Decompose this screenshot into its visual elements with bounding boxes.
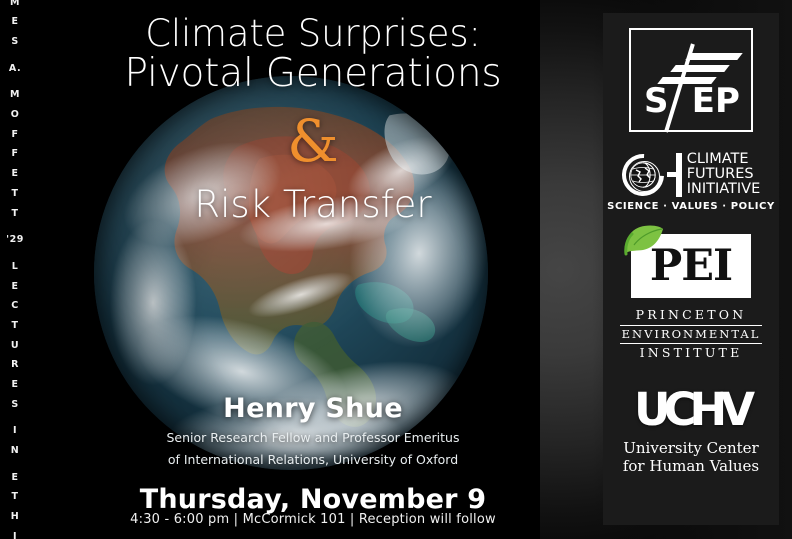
event-poster: J A M E S A. M O F F E T T '29 L E C T U… bbox=[0, 0, 792, 539]
step-letters: S T E P bbox=[631, 84, 751, 118]
sidebar-letter: M bbox=[10, 0, 20, 7]
sidebar-letter: F bbox=[11, 130, 18, 140]
sidebar-letter: F bbox=[11, 149, 18, 159]
step-letter-e: E bbox=[692, 84, 715, 118]
step-letter-p: P bbox=[715, 84, 740, 118]
title-line-2: Pivotal Generations bbox=[30, 53, 596, 94]
sidebar-letter: T bbox=[12, 209, 19, 219]
event-details: 4:30 - 6:00 pm | McCormick 101 | Recepti… bbox=[30, 512, 596, 527]
cfi-globe-icon bbox=[622, 153, 666, 197]
sponsor-logo-panel: S T E P bbox=[603, 13, 779, 525]
title-subtitle: Risk Transfer bbox=[30, 183, 596, 226]
leaf-icon bbox=[622, 223, 664, 257]
step-letter-s: S bbox=[644, 84, 669, 118]
sidebar-letter: R bbox=[11, 360, 19, 370]
series-title-vertical: J A M E S A. M O F F E T T '29 L E C T U… bbox=[6, 0, 24, 539]
cfi-f-arm bbox=[667, 172, 682, 177]
step-stair-bar bbox=[670, 65, 729, 72]
cfi-line-1: CLIMATE bbox=[687, 152, 761, 167]
sidebar-letter: I bbox=[13, 426, 17, 436]
cfi-f-letter bbox=[664, 153, 684, 197]
sidebar-letter: A. bbox=[9, 64, 21, 74]
sidebar-letter: S bbox=[11, 37, 18, 47]
sidebar-letter: E bbox=[11, 380, 18, 390]
sidebar-letter: L bbox=[12, 262, 19, 272]
speaker-name: Henry Shue bbox=[30, 393, 596, 424]
cfi-logo-row: CLIMATE FUTURES INITIATIVE bbox=[622, 152, 761, 197]
series-sidebar: J A M E S A. M O F F E T T '29 L E C T U… bbox=[0, 0, 30, 539]
pei-line-2: ENVIRONMENTAL bbox=[620, 325, 763, 344]
sidebar-letter: I bbox=[13, 532, 17, 539]
uchv-line-1: University Center bbox=[623, 439, 759, 457]
sidebar-letter: N bbox=[11, 446, 19, 456]
sidebar-letter: U bbox=[11, 341, 19, 351]
sidebar-letter: E bbox=[11, 282, 18, 292]
princeton-environmental-institute-logo: PEI PRINCETON ENVIRONMENTAL INSTITUTE bbox=[603, 234, 779, 363]
step-stair-bar bbox=[685, 53, 742, 60]
ampersand-accent: & bbox=[30, 112, 596, 170]
sidebar-letter: O bbox=[11, 110, 20, 120]
sidebar-letter: '29 bbox=[6, 235, 24, 245]
cfi-wordmark: CLIMATE FUTURES INITIATIVE bbox=[687, 152, 761, 197]
climate-futures-initiative-logo: CLIMATE FUTURES INITIATIVE SCIENCE · VAL… bbox=[603, 152, 779, 212]
event-date: Thursday, November 9 bbox=[30, 484, 596, 515]
sidebar-letter: M bbox=[10, 90, 20, 100]
cfi-tagline: SCIENCE · VALUES · POLICY bbox=[607, 201, 775, 212]
sidebar-letter: T bbox=[12, 189, 19, 199]
uchv-line-2: for Human Values bbox=[623, 457, 759, 475]
pei-line-1: PRINCETON bbox=[620, 306, 763, 325]
uchv-wordmark: University Center for Human Values bbox=[623, 439, 759, 476]
cfi-line-3: INITIATIVE bbox=[687, 182, 761, 197]
page-title: Climate Surprises: Pivotal Generations bbox=[30, 14, 596, 95]
title-line-1: Climate Surprises: bbox=[30, 14, 596, 53]
sidebar-letter: H bbox=[11, 512, 19, 522]
pei-wordmark: PRINCETON ENVIRONMENTAL INSTITUTE bbox=[620, 306, 763, 363]
sidebar-letter: E bbox=[11, 169, 18, 179]
uchv-monogram: UCHV bbox=[634, 387, 748, 432]
step-logo: S T E P bbox=[603, 28, 779, 132]
speaker-role-line-1: Senior Research Fellow and Professor Eme… bbox=[30, 427, 596, 449]
sidebar-letter: S bbox=[11, 400, 18, 410]
university-center-human-values-logo: UCHV University Center for Human Values bbox=[603, 387, 779, 476]
sidebar-letter: E bbox=[11, 473, 18, 483]
speaker-role-line-2: of International Relations, University o… bbox=[30, 449, 596, 471]
sidebar-letter: T bbox=[12, 321, 19, 331]
pei-logo-mark: PEI bbox=[631, 234, 751, 298]
cfi-globe-illustration bbox=[630, 162, 656, 188]
step-logo-frame: S T E P bbox=[629, 28, 753, 132]
cfi-line-2: FUTURES bbox=[687, 167, 761, 182]
sidebar-letter: E bbox=[11, 17, 18, 27]
cfi-globe-disc bbox=[629, 161, 660, 192]
poster-main-content: Climate Surprises: Pivotal Generations &… bbox=[30, 0, 596, 539]
sidebar-letter: T bbox=[12, 492, 19, 502]
pei-line-3: INSTITUTE bbox=[620, 344, 763, 363]
speaker-role: Senior Research Fellow and Professor Eme… bbox=[30, 427, 596, 471]
sidebar-letter: C bbox=[11, 301, 18, 311]
